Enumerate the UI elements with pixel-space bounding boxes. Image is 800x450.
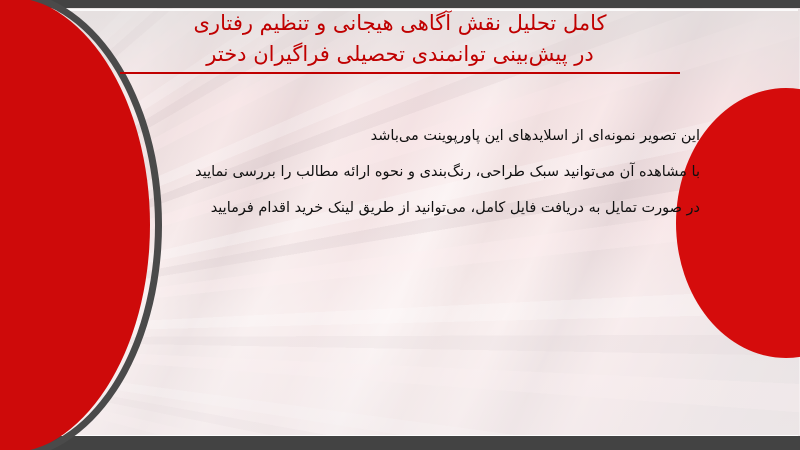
slide-body: این تصویر نمونه‌ای از اسلایدهای این پاور… bbox=[120, 118, 700, 226]
body-line-1: این تصویر نمونه‌ای از اسلایدهای این پاور… bbox=[120, 118, 700, 154]
body-line-2: با مشاهده آن می‌توانید سبک طراحی، رنگ‌بن… bbox=[120, 154, 700, 190]
title-line-2: در پیش‌بینی توانمندی تحصیلی فراگیران دخت… bbox=[120, 39, 680, 74]
slide-canvas: کامل تحلیل نقش آگاهی هیجانی و تنظیم رفتا… bbox=[0, 0, 800, 450]
body-line-3: در صورت تمایل به دریافت فایل کامل، می‌تو… bbox=[120, 190, 700, 226]
title-line-1: کامل تحلیل نقش آگاهی هیجانی و تنظیم رفتا… bbox=[120, 8, 680, 39]
slide-title: کامل تحلیل نقش آگاهی هیجانی و تنظیم رفتا… bbox=[120, 8, 680, 74]
